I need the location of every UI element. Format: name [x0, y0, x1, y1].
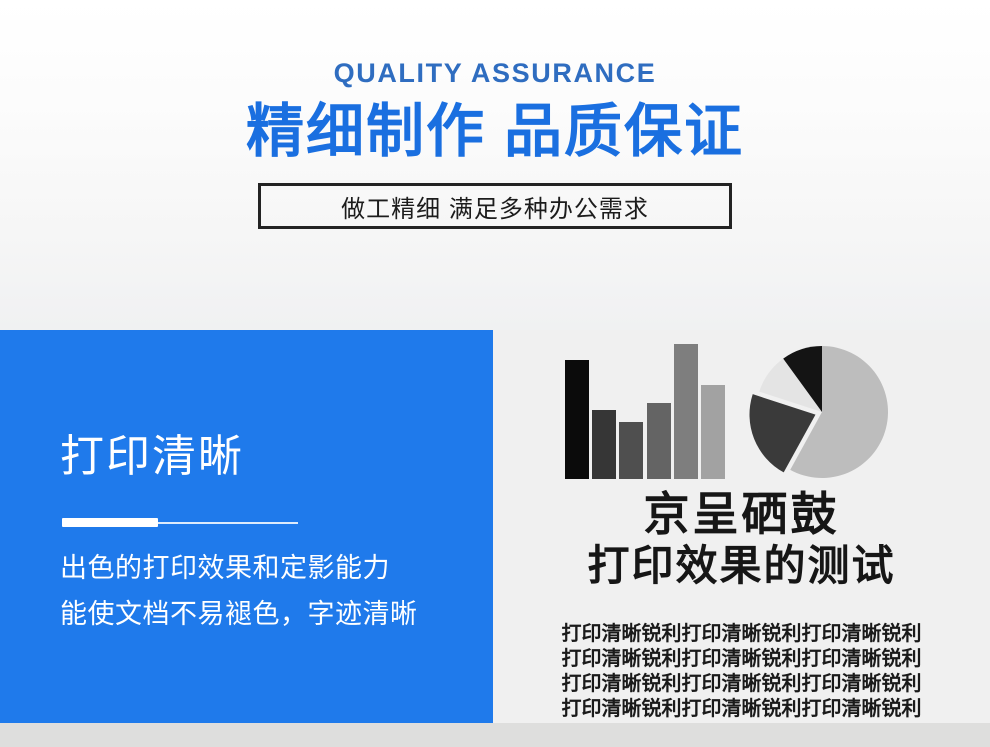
promo-banner: QUALITY ASSURANCE 精细制作 品质保证 做工精细 满足多种办公需…	[0, 0, 990, 747]
bar-chart-bar	[701, 385, 725, 480]
brand-subtitle: 打印效果的测试	[493, 544, 990, 588]
subtitle-text: 做工精细 满足多种办公需求	[341, 189, 649, 224]
feature-title: 打印清晰	[60, 435, 244, 479]
sample-text-line: 打印清晰锐利打印清晰锐利打印清晰锐利	[493, 622, 990, 647]
content-section: 打印清晰 出色的打印效果和定影能力 能使文档不易褪色，字迹清晰 京呈硒鼓 打印效…	[0, 330, 990, 723]
divider-thick-segment	[62, 518, 158, 527]
pie-chart-svg	[748, 338, 896, 486]
sample-text-line: 打印清晰锐利打印清晰锐利打印清晰锐利	[493, 647, 990, 672]
subtitle-box: 做工精细 满足多种办公需求	[258, 183, 732, 229]
page-title: 精细制作 品质保证	[0, 99, 990, 166]
feature-panel-blue: 打印清晰 出色的打印效果和定影能力 能使文档不易褪色，字迹清晰	[0, 330, 493, 723]
brand-title: 京呈硒鼓	[493, 490, 990, 538]
sample-text-line: 打印清晰锐利打印清晰锐利打印清晰锐利	[493, 697, 990, 722]
bottom-strip	[0, 723, 990, 747]
feature-description-line: 出色的打印效果和定影能力	[60, 546, 390, 585]
sample-output-panel: 京呈硒鼓 打印效果的测试 打印清晰锐利打印清晰锐利打印清晰锐利打印清晰锐利打印清…	[493, 330, 990, 723]
header-section: QUALITY ASSURANCE 精细制作 品质保证 做工精细 满足多种办公需…	[0, 0, 990, 330]
bar-chart-bar	[619, 422, 643, 479]
bar-chart-bar	[592, 410, 616, 479]
feature-description-line: 能使文档不易褪色，字迹清晰	[60, 592, 418, 631]
eyebrow-text: QUALITY ASSURANCE	[0, 58, 990, 89]
pie-chart	[748, 338, 896, 486]
sample-text-block: 打印清晰锐利打印清晰锐利打印清晰锐利打印清晰锐利打印清晰锐利打印清晰锐利打印清晰…	[493, 622, 990, 722]
sample-text-line: 打印清晰锐利打印清晰锐利打印清晰锐利	[493, 672, 990, 697]
title-divider	[62, 518, 298, 527]
bar-chart-bar	[647, 403, 671, 479]
bar-chart-bar	[674, 344, 698, 479]
bar-chart-bar	[565, 360, 589, 479]
bar-chart	[565, 344, 725, 479]
divider-thin-segment	[158, 522, 298, 524]
